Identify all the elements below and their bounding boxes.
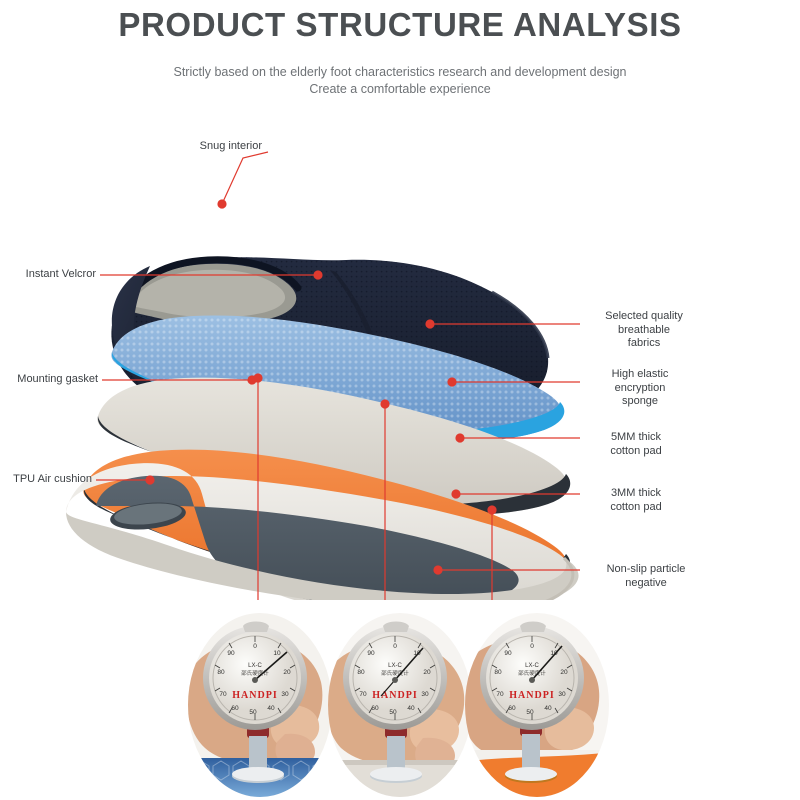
product-artwork: [0, 120, 800, 600]
gauge-panel-grey: 01020 304050 607080 90 LX-C 邵氏硬度计 HANDPI: [325, 610, 475, 800]
svg-text:HANDPI: HANDPI: [509, 690, 554, 701]
svg-text:LX-C: LX-C: [248, 663, 262, 669]
svg-text:70: 70: [219, 691, 227, 698]
svg-text:20: 20: [560, 669, 568, 676]
label-tpu-air-cushion: TPU Air cushion: [0, 473, 92, 487]
gauge-panel-orange: 01020 304050 607080 90 LX-C 邵氏硬度计 HANDPI: [462, 610, 612, 800]
svg-text:80: 80: [357, 669, 365, 676]
svg-text:50: 50: [249, 709, 257, 716]
svg-text:30: 30: [421, 691, 429, 698]
svg-text:LX-C: LX-C: [525, 663, 539, 669]
hardness-test-panels: 01020 304050 607080 90 LX-C 邵氏硬度计 HANDPI: [0, 600, 800, 800]
label-mounting-gasket: Mounting gasket: [0, 373, 98, 387]
svg-text:70: 70: [359, 691, 367, 698]
svg-text:邵氏硬度计: 邵氏硬度计: [381, 669, 409, 677]
svg-text:LX-C: LX-C: [388, 663, 402, 669]
svg-text:邵氏硬度计: 邵氏硬度计: [518, 669, 546, 677]
label-cotton-pad-5mm: 5MM thick cotton pad: [584, 431, 688, 458]
callout-dot-cotton-pad-5mm: [456, 434, 464, 442]
page-title: PRODUCT STRUCTURE ANALYSIS: [0, 6, 800, 44]
gauge-panel-blue: 01020 304050 607080 90 LX-C 邵氏硬度计 HANDPI: [185, 610, 335, 800]
callout-dot-instant-velcror: [314, 271, 322, 279]
callout-dot-drop-right: [488, 506, 496, 514]
svg-text:50: 50: [526, 709, 534, 716]
svg-text:30: 30: [281, 691, 289, 698]
svg-text:60: 60: [508, 705, 516, 712]
label-encryption-sponge: High elastic encryption sponge: [584, 368, 696, 409]
label-snug-interior: Snug interior: [0, 140, 262, 154]
label-cotton-pad-3mm: 3MM thick cotton pad: [584, 487, 688, 514]
svg-text:50: 50: [389, 709, 397, 716]
svg-text:90: 90: [367, 650, 375, 657]
callout-dot-encryption-sponge: [448, 378, 456, 386]
svg-text:HANDPI: HANDPI: [372, 690, 417, 701]
callout-dot-drop-middle: [381, 400, 389, 408]
subtitle-line-2: Create a comfortable experience: [0, 81, 800, 98]
svg-text:10: 10: [273, 650, 281, 657]
svg-text:90: 90: [227, 650, 235, 657]
product-exploded-diagram: Snug interior Instant Velcror Mounting g…: [0, 120, 800, 600]
svg-text:0: 0: [253, 643, 257, 650]
callout-dot-non-slip-particle: [434, 566, 442, 574]
label-breathable-fabrics: Selected quality breathable fabrics: [584, 310, 704, 351]
subtitle-line-1: Strictly based on the elderly foot chara…: [0, 64, 800, 81]
svg-text:40: 40: [544, 705, 552, 712]
svg-text:80: 80: [494, 669, 502, 676]
svg-text:60: 60: [371, 705, 379, 712]
infographic-root: PRODUCT STRUCTURE ANALYSIS Strictly base…: [0, 0, 800, 800]
label-instant-velcror: Instant Velcror: [0, 268, 96, 282]
svg-text:20: 20: [283, 669, 291, 676]
callout-dot-drop-left: [254, 374, 262, 382]
svg-text:30: 30: [558, 691, 566, 698]
svg-text:HANDPI: HANDPI: [232, 690, 277, 701]
svg-text:90: 90: [504, 650, 512, 657]
callout-dot-cotton-pad-3mm: [452, 490, 460, 498]
svg-text:40: 40: [267, 705, 275, 712]
svg-text:0: 0: [393, 643, 397, 650]
svg-text:60: 60: [231, 705, 239, 712]
label-non-slip-particle: Non-slip particle negative: [584, 563, 708, 590]
svg-text:70: 70: [496, 691, 504, 698]
svg-text:40: 40: [407, 705, 415, 712]
callout-dot-breathable-fabrics: [426, 320, 434, 328]
callout-dot-tpu-air-cushion: [146, 476, 154, 484]
svg-text:20: 20: [423, 669, 431, 676]
page-subtitle: Strictly based on the elderly foot chara…: [0, 64, 800, 98]
svg-text:80: 80: [217, 669, 225, 676]
svg-text:0: 0: [530, 643, 534, 650]
callout-dot-snug-interior: [218, 200, 226, 208]
